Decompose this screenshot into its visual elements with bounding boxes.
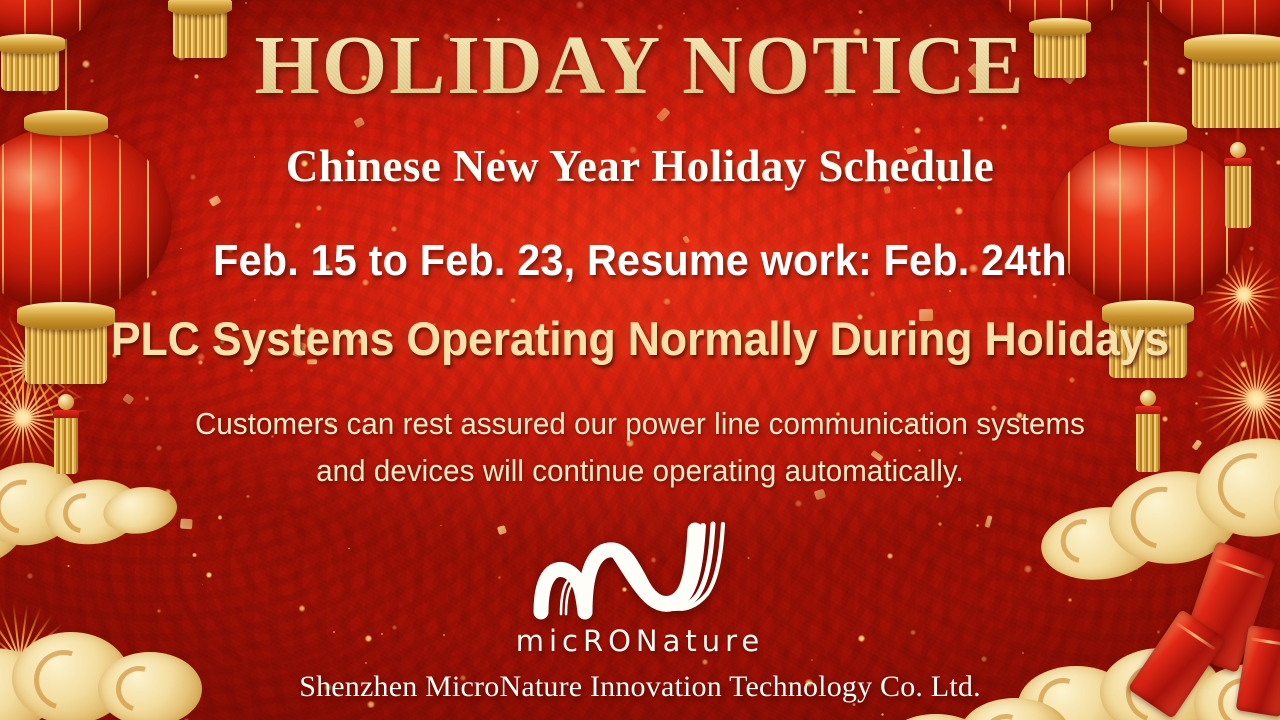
micronature-ribbon-logo: [525, 512, 755, 620]
body-copy-line-1: Customers can rest assured our power lin…: [32, 400, 1248, 447]
brand-logo: micRONature: [0, 512, 1280, 658]
poster-subtitle: Chinese New Year Holiday Schedule: [0, 140, 1280, 192]
company-name: Shenzhen MicroNature Innovation Technolo…: [0, 670, 1280, 704]
page-title: HOLIDAY NOTICE: [0, 22, 1280, 109]
poster-content: HOLIDAY NOTICE Chinese New Year Holiday …: [0, 0, 1280, 720]
holiday-dates: Feb. 15 to Feb. 23, Resume work: Feb. 24…: [38, 236, 1241, 286]
holiday-notice-poster: HOLIDAY NOTICE Chinese New Year Holiday …: [0, 0, 1280, 720]
body-copy: Customers can rest assured our power lin…: [32, 400, 1248, 494]
logo-wordmark: micRONature: [516, 624, 765, 658]
body-copy-line-2: and devices will continue operating auto…: [32, 447, 1248, 494]
service-headline: PLC Systems Operating Normally During Ho…: [32, 311, 1248, 366]
